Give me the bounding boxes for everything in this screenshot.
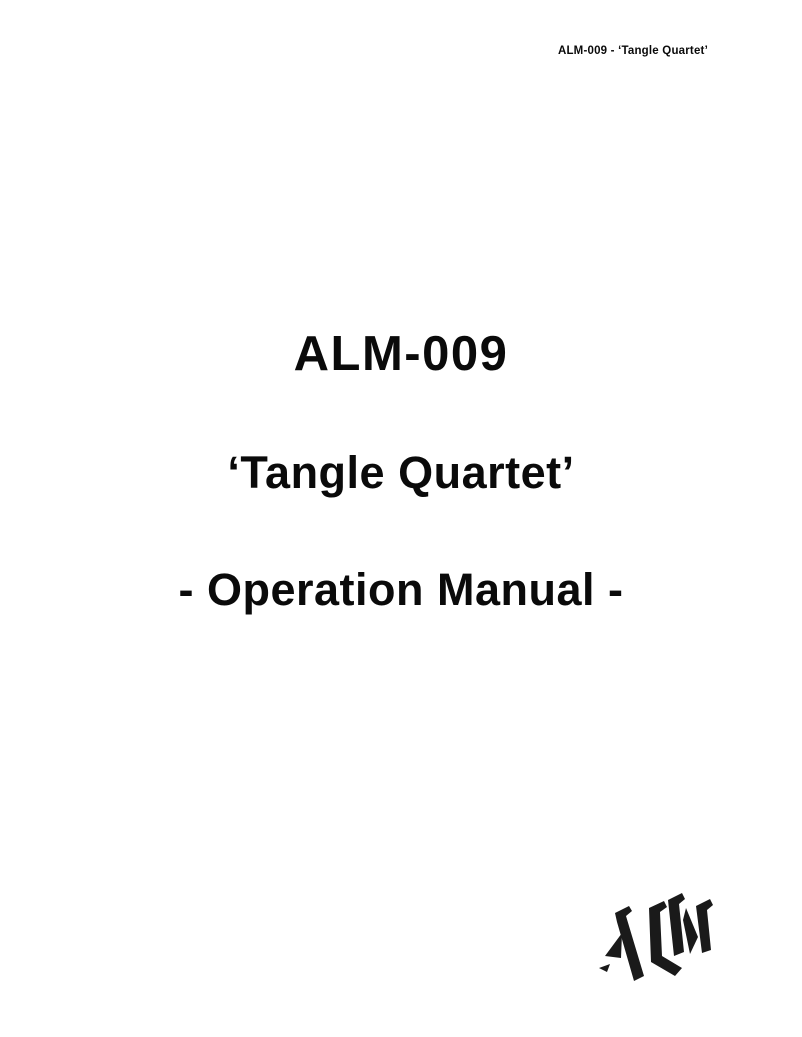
document-type: - Operation Manual -: [0, 567, 802, 612]
alm-logo-icon: [596, 890, 720, 982]
page-title: ALM-009: [0, 330, 802, 379]
manual-cover-page: ALM-009 - ‘Tangle Quartet’ ALM-009 ‘Tang…: [0, 0, 802, 1037]
product-name: ‘Tangle Quartet’: [0, 450, 802, 495]
cover-title-block: ALM-009 ‘Tangle Quartet’ - Operation Man…: [0, 330, 802, 612]
running-header: ALM-009 - ‘Tangle Quartet’: [558, 45, 708, 57]
alm-logo: [596, 890, 720, 982]
